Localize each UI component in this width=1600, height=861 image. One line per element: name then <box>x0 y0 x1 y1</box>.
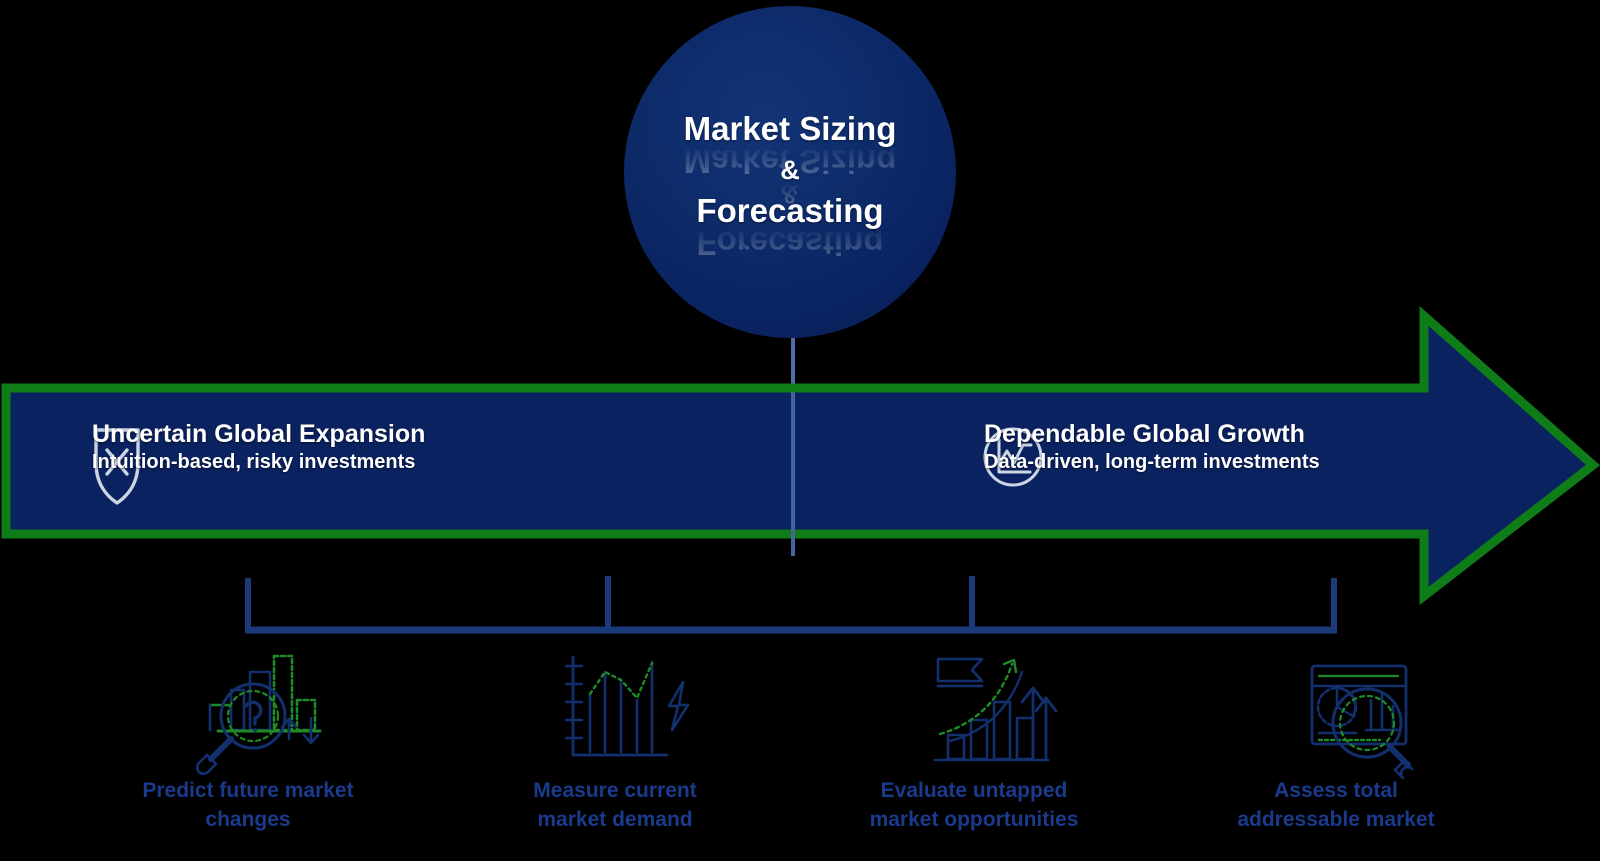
magnifier-question-barchart-icon <box>197 656 320 774</box>
growth-arrows-barchart-icon <box>935 659 1056 760</box>
step-label-2[interactable]: Measure current market demand <box>495 776 735 834</box>
bar-gauge-lightning-icon <box>566 657 688 755</box>
band-left-title: Uncertain Global Expansion <box>92 419 425 449</box>
dashboard-magnifier-icon <box>1312 666 1412 778</box>
step-label-3[interactable]: Evaluate untapped market opportunities <box>850 776 1098 834</box>
band-right-subtitle: Data-driven, long-term investments <box>984 449 1320 476</box>
band-right-title: Dependable Global Growth <box>984 419 1320 449</box>
band-right-text: Dependable Global Growth Data-driven, lo… <box>984 419 1320 476</box>
band-right-block[interactable]: Dependable Global Growth Data-driven, lo… <box>984 419 1320 476</box>
diagram-canvas: Market Sizing Market Sizing & & Forecast… <box>0 0 1600 861</box>
band-left-text: Uncertain Global Expansion Intuition-bas… <box>92 419 425 476</box>
step-label-1[interactable]: Predict future market changes <box>128 776 368 834</box>
band-left-subtitle: Intuition-based, risky investments <box>92 449 415 476</box>
step-label-4[interactable]: Assess total addressable market <box>1212 776 1460 834</box>
hub-circle[interactable] <box>624 6 956 338</box>
band-left-block[interactable]: Uncertain Global Expansion Intuition-bas… <box>92 419 425 476</box>
step-connector-bracket <box>245 576 1337 632</box>
